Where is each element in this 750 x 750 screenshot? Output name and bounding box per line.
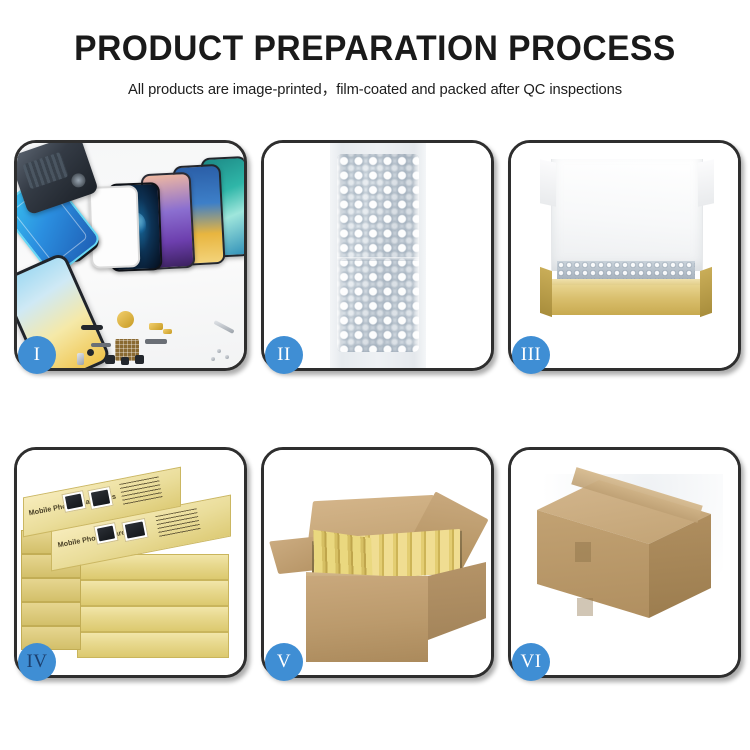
sealed-carton-scene xyxy=(511,450,738,675)
carton-front-panel xyxy=(306,576,428,662)
process-step-panel-3[interactable]: III xyxy=(508,140,741,371)
retail-box-r4 xyxy=(77,606,229,632)
step-badge-6: VI xyxy=(512,643,550,681)
page-header: PRODUCT PREPARATION PROCESS All products… xyxy=(0,0,750,99)
part-button-bracket xyxy=(121,357,129,365)
retail-box-r3 xyxy=(77,580,229,606)
sealed-carton-notch-top xyxy=(575,542,591,562)
inner-box-scene xyxy=(511,143,738,368)
step-1-image xyxy=(17,143,244,368)
part-taptic-engine xyxy=(135,355,144,364)
part-flex-cable-b xyxy=(145,339,167,344)
part-screw-1 xyxy=(217,349,221,353)
step-badge-3: III xyxy=(512,336,550,374)
part-screw-3 xyxy=(211,357,215,361)
process-step-panel-6[interactable]: VI xyxy=(508,447,741,678)
process-step-grid: I II I xyxy=(14,140,736,672)
step-badge-1: I xyxy=(18,336,56,374)
inner-box-white-lid xyxy=(551,159,703,271)
part-speaker-box xyxy=(105,355,115,364)
screen-protector-glass xyxy=(89,185,141,269)
step-badge-2: II xyxy=(265,336,303,374)
bubble-wrap-pack xyxy=(337,154,419,352)
retail-box-l4 xyxy=(21,602,81,626)
page-subtitle: All products are image-printed，film-coat… xyxy=(11,77,739,99)
process-step-panel-2[interactable]: II xyxy=(261,140,494,371)
carton-filling-scene xyxy=(264,450,491,675)
process-step-panel-1[interactable]: I xyxy=(14,140,247,371)
sealed-carton-notch-bottom xyxy=(577,598,593,616)
part-vibration-motor xyxy=(117,311,134,328)
bubble-wrap-edge-right xyxy=(412,154,419,352)
bubble-wrap-scene xyxy=(264,143,491,368)
part-screw-2 xyxy=(225,355,229,359)
process-step-panel-5[interactable]: V xyxy=(261,447,494,678)
part-tweezers xyxy=(213,320,234,334)
retail-box-r5 xyxy=(77,632,229,658)
part-earpiece-mesh xyxy=(81,325,103,330)
part-camera-module xyxy=(87,349,94,356)
part-flex-cable-a xyxy=(91,343,111,347)
step-badge-4: IV xyxy=(18,643,56,681)
step-badge-5: V xyxy=(265,643,303,681)
bubble-pattern-back xyxy=(337,154,419,352)
phone-back-housing xyxy=(17,143,99,215)
inner-box-kraft-front xyxy=(549,285,703,315)
phone-parts-scene xyxy=(17,143,244,368)
bubble-wrap-edge-left xyxy=(337,154,344,352)
part-gold-contact xyxy=(163,329,172,334)
step-4-image: Mobile Phone Spare Parts Mobile Phone Sp… xyxy=(17,450,244,675)
bubble-wrap-seam xyxy=(337,257,419,261)
process-step-panel-4[interactable]: Mobile Phone Spare Parts Mobile Phone Sp… xyxy=(14,447,247,678)
page-title: PRODUCT PREPARATION PROCESS xyxy=(15,30,735,68)
part-flex-connector xyxy=(149,323,163,330)
step-6-image xyxy=(511,450,738,675)
step-3-image xyxy=(511,143,738,368)
step-2-image xyxy=(264,143,491,368)
retail-box-stack-scene: Mobile Phone Spare Parts Mobile Phone Sp… xyxy=(17,450,244,675)
part-sim-tray xyxy=(77,353,84,365)
retail-box-l3 xyxy=(21,578,81,602)
step-5-image xyxy=(264,450,491,675)
